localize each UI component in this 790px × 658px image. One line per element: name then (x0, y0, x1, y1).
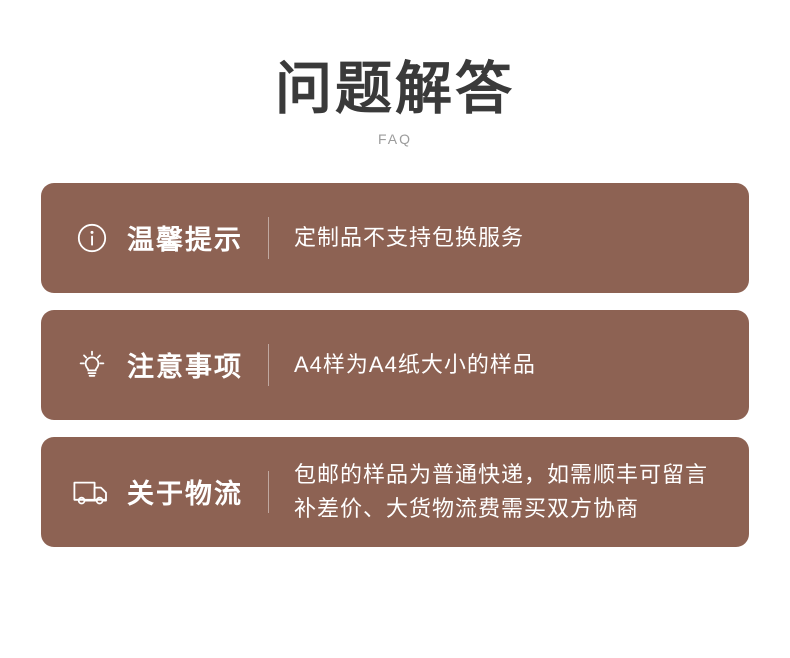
faq-card-list: 温馨提示 定制品不支持包换服务 注意事项 A4样为A4纸大小的样 (0, 183, 790, 547)
faq-card-logistics[interactable]: 关于物流 包邮的样品为普通快递，如需顺丰可留言补差价、大货物流费需买双方协商 (41, 437, 749, 547)
faq-card-tips[interactable]: 温馨提示 定制品不支持包换服务 (41, 183, 749, 293)
faq-card-text: A4样为A4纸大小的样品 (294, 348, 536, 382)
info-circle-icon (71, 217, 113, 259)
page-header: 问题解答 FAQ (0, 0, 790, 147)
faq-card-label: 注意事项 (127, 345, 243, 384)
card-divider (268, 471, 269, 513)
card-divider (268, 344, 269, 386)
lightbulb-icon (71, 344, 113, 386)
truck-icon (71, 471, 113, 513)
page-subtitle: FAQ (0, 131, 790, 147)
page-title: 问题解答 (0, 58, 790, 121)
card-divider (268, 217, 269, 259)
faq-card-label: 温馨提示 (127, 218, 243, 257)
faq-card-notes[interactable]: 注意事项 A4样为A4纸大小的样品 (41, 310, 749, 420)
faq-card-text: 包邮的样品为普通快递，如需顺丰可留言补差价、大货物流费需买双方协商 (294, 458, 727, 526)
faq-card-label: 关于物流 (127, 472, 243, 511)
faq-page: 问题解答 FAQ 温馨提示 定制品不支持包换服务 (0, 0, 790, 658)
faq-card-text: 定制品不支持包换服务 (294, 221, 524, 255)
